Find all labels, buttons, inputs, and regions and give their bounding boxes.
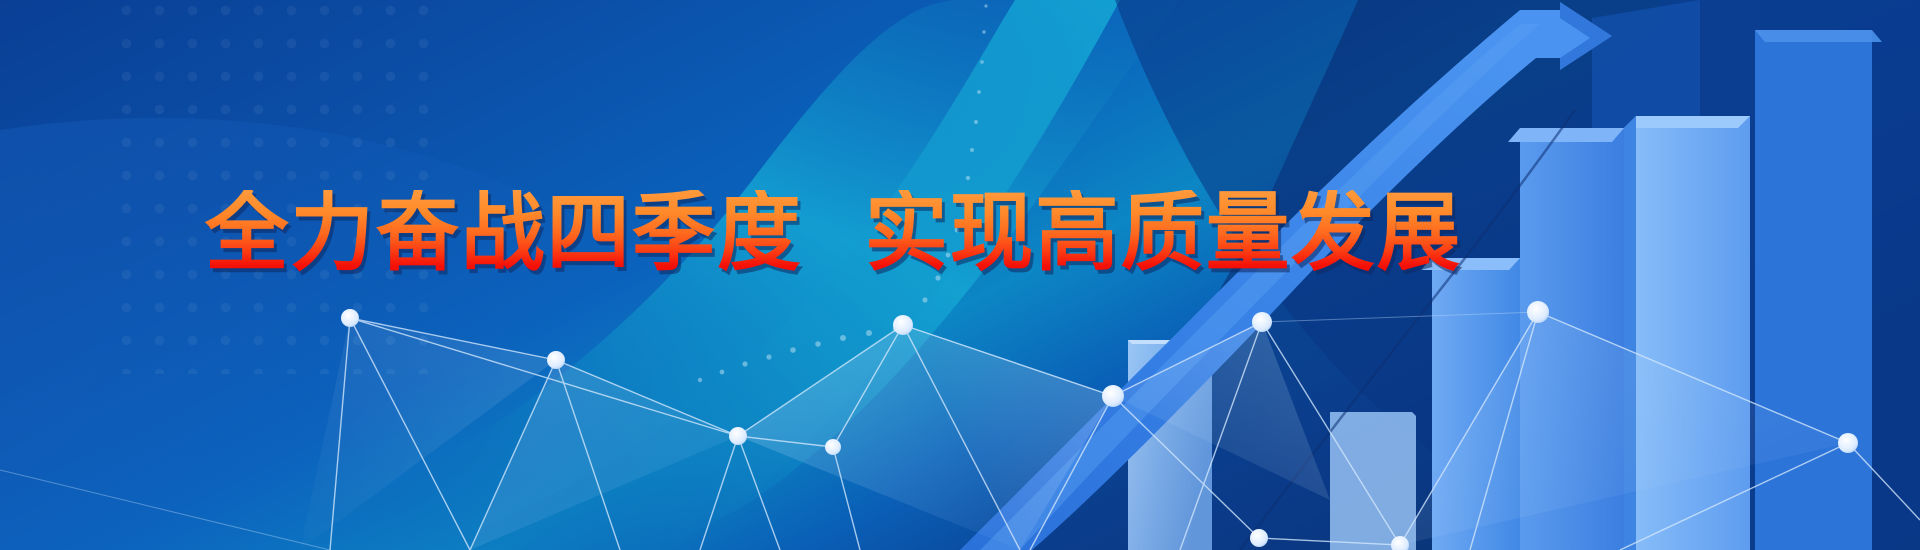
promo-banner: 全力奋战四季度 实现高质量发展 bbox=[0, 0, 1920, 550]
polygon-network-lines bbox=[0, 0, 1920, 550]
